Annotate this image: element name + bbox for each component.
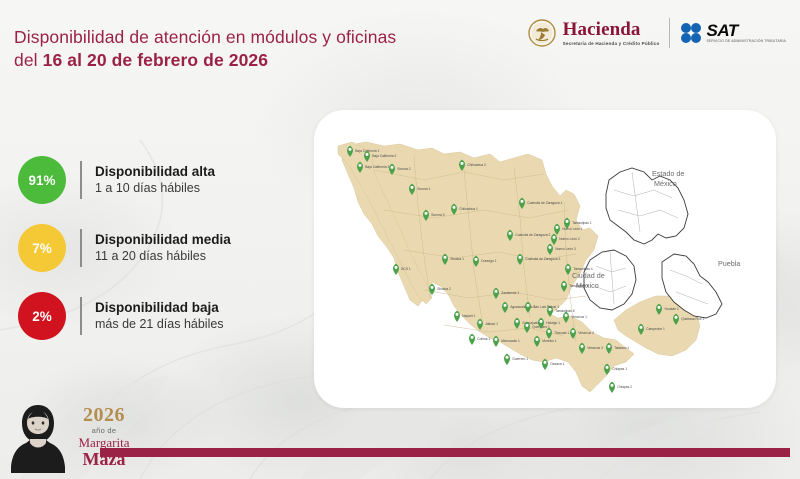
pin-center-dot <box>366 153 369 156</box>
legend-item-baja: 2% Disponibilidad baja más de 21 días há… <box>18 288 298 344</box>
pin-center-dot <box>475 258 478 261</box>
title-line-2-prefix: del <box>14 50 43 70</box>
map-inset-states: Estado de México Ciudad de México Puebla <box>572 168 740 318</box>
pin-label: Veracruz 1 <box>571 315 587 319</box>
pin-center-dot <box>549 246 552 249</box>
legend-percent: 7% <box>32 241 52 256</box>
pin-label: San Luis Potosí 1 <box>533 305 559 309</box>
pin-center-dot <box>521 200 524 203</box>
sat-subtitle: SERVICIO DE ADMINISTRACIÓN TRIBUTARIA <box>706 39 786 44</box>
pin-center-dot <box>506 356 509 359</box>
location-pin-icon <box>469 334 475 345</box>
pin-label: BCS 1 <box>401 267 411 271</box>
pin-label: Baja California 2 <box>372 154 396 158</box>
sat-name: SAT <box>706 22 786 39</box>
inset-label-estado-de-mexico-2: México <box>654 179 677 188</box>
legend-item-alta: 91% Disponibilidad alta 1 a 10 días hábi… <box>18 152 298 208</box>
hacienda-name: Hacienda <box>563 20 660 40</box>
pin-label: Morelos 1 <box>542 339 557 343</box>
pin-label: Colima 1 <box>477 337 490 341</box>
title-line-2-strong: 16 al 20 de febrero de 2026 <box>43 50 268 70</box>
pin-center-dot <box>658 306 661 309</box>
pin-center-dot <box>563 283 566 286</box>
pin-center-dot <box>504 304 507 307</box>
title-line-1: Disponibilidad de atención en módulos y … <box>14 26 514 49</box>
pin-label: Tamaulipas 4 <box>573 267 593 271</box>
legend-text: Disponibilidad baja más de 21 días hábil… <box>95 299 224 333</box>
yellow-circle-badge: 7% <box>18 224 66 272</box>
pin-center-dot <box>581 345 584 348</box>
pin-center-dot <box>640 326 643 329</box>
pin-center-dot <box>359 164 362 167</box>
pin-center-dot <box>565 314 568 317</box>
sat-four-dots-icon <box>680 22 702 44</box>
pin-center-dot <box>556 226 559 229</box>
pin-center-dot <box>516 320 519 323</box>
legend-percent: 91% <box>28 173 55 188</box>
availability-legend: 91% Disponibilidad alta 1 a 10 días hábi… <box>18 152 298 356</box>
footer-accent-bar <box>100 448 790 457</box>
legend-text: Disponibilidad alta 1 a 10 días hábiles <box>95 163 215 197</box>
pin-label: Durango 1 <box>481 259 497 263</box>
pin-center-dot <box>391 166 394 169</box>
pin-center-dot <box>461 162 464 165</box>
pin-center-dot <box>349 148 352 151</box>
pin-label: Sinaloa 1 <box>450 257 464 261</box>
legend-divider <box>80 297 82 335</box>
pin-center-dot <box>526 324 529 327</box>
sat-text: SAT SERVICIO DE ADMINISTRACIÓN TRIBUTARI… <box>706 22 786 44</box>
pin-label: Guerrero 1 <box>512 357 528 361</box>
legend-item-media: 7% Disponibilidad media 11 a 20 días háb… <box>18 220 298 276</box>
pin-center-dot <box>471 336 474 339</box>
pin-label: Chiapas 2 <box>617 385 632 389</box>
footer-year: 2026 <box>66 405 142 426</box>
hacienda-text: Hacienda Secretaría de Hacienda y Crédit… <box>563 20 660 47</box>
pin-center-dot <box>527 304 530 307</box>
pin-label: Chihuahua 2 <box>467 163 486 167</box>
pin-label: Hidalgo 1 <box>546 321 560 325</box>
pin-label: Veracruz 3 <box>587 346 603 350</box>
pin-label: Tabasco 1 <box>614 346 629 350</box>
margarita-maza-text: 2026 año de Margarita Maza <box>66 405 142 469</box>
pin-center-dot <box>572 330 575 333</box>
green-circle-badge: 91% <box>18 156 66 204</box>
location-pin-icon <box>609 382 615 393</box>
pin-center-dot <box>495 290 498 293</box>
hacienda-subtitle: Secretaría de Hacienda y Crédito Público <box>563 40 660 47</box>
pin-label: Chiapas 1 <box>612 367 627 371</box>
pin-center-dot <box>395 266 398 269</box>
inset-label-puebla: Puebla <box>718 259 740 268</box>
logo-divider <box>669 18 670 48</box>
map-card: Estado de México Ciudad de México Puebla… <box>314 110 776 408</box>
legend-subtitle: más de 21 días hábiles <box>95 316 224 333</box>
footer-name-line2: Maza <box>66 450 142 469</box>
legend-subtitle: 1 a 10 días hábiles <box>95 180 215 197</box>
hacienda-logo: Hacienda Secretaría de Hacienda y Crédit… <box>528 19 660 47</box>
pin-center-dot <box>606 366 609 369</box>
pin-label: Tamaulipas 1 <box>572 221 592 225</box>
pin-center-dot <box>411 186 414 189</box>
legend-divider <box>80 229 82 267</box>
pin-center-dot <box>453 206 456 209</box>
legend-title: Disponibilidad alta <box>95 163 215 180</box>
pin-label: Sonora 3 <box>431 213 445 217</box>
logo-bar: Hacienda Secretaría de Hacienda y Crédit… <box>528 10 786 56</box>
pin-label: Quintana Roo 1 <box>681 317 704 321</box>
pin-label: Nayarit 1 <box>462 314 475 318</box>
pin-center-dot <box>444 256 447 259</box>
pin-center-dot <box>425 212 428 215</box>
pin-center-dot <box>608 345 611 348</box>
pin-center-dot <box>509 232 512 235</box>
pin-center-dot <box>567 266 570 269</box>
pin-label: Zacatecas 1 <box>501 291 519 295</box>
pin-center-dot <box>431 286 434 289</box>
pin-label: Jalisco 1 <box>485 322 498 326</box>
legend-subtitle: 11 a 20 días hábiles <box>95 248 231 265</box>
pin-label: Chihuahua 1 <box>459 207 478 211</box>
pin-label: Yucatán 1 <box>664 307 679 311</box>
pin-label: Veracruz 2 <box>578 331 594 335</box>
page-header: Disponibilidad de atención en módulos y … <box>0 0 800 92</box>
pin-label: Tamaulipas 5 <box>569 284 589 288</box>
pin-label: Aguascalientes 1 <box>510 305 535 309</box>
legend-percent: 2% <box>32 309 52 324</box>
pin-label: Nuevo León 2 <box>559 237 580 241</box>
pin-label: Nuevo León 3 <box>555 247 576 251</box>
margarita-maza-logo: 2026 año de Margarita Maza <box>8 397 138 473</box>
inset-label-ciudad-de-mexico: Ciudad de <box>572 271 605 280</box>
pin-label: Baja California 3 <box>365 165 389 169</box>
pin-label: Sonora 2 <box>397 167 411 171</box>
page-title: Disponibilidad de atención en módulos y … <box>14 26 514 72</box>
mexico-availability-map: Estado de México Ciudad de México Puebla… <box>314 110 776 408</box>
pin-center-dot <box>548 330 551 333</box>
pin-label: Nuevo León 1 <box>562 227 583 231</box>
pin-center-dot <box>566 220 569 223</box>
pin-label: Michoacán 1 <box>501 339 520 343</box>
pin-label: Sonora 1 <box>417 187 431 191</box>
pin-label: Coahuila de Zaragoza 1 <box>527 201 562 205</box>
pin-label: Coahuila de Zaragoza 2 <box>515 233 550 237</box>
red-circle-badge: 2% <box>18 292 66 340</box>
sat-logo: SAT SERVICIO DE ADMINISTRACIÓN TRIBUTARI… <box>680 22 786 44</box>
pin-label: Oaxaca 1 <box>550 362 564 366</box>
pin-label: Coahuila de Zaragoza 3 <box>525 257 560 261</box>
pin-center-dot <box>456 313 459 316</box>
pin-center-dot <box>519 256 522 259</box>
legend-divider <box>80 161 82 199</box>
map-pin: Oaxaca 1 <box>542 359 564 370</box>
legend-text: Disponibilidad media 11 a 20 días hábile… <box>95 231 231 265</box>
title-line-2: del 16 al 20 de febrero de 2026 <box>14 49 514 72</box>
pin-center-dot <box>544 361 547 364</box>
legend-title: Disponibilidad baja <box>95 299 224 316</box>
pin-center-dot <box>540 320 543 323</box>
map-pin: Chiapas 2 <box>609 382 632 393</box>
inset-label-estado-de-mexico: Estado de <box>652 169 684 178</box>
pin-center-dot <box>675 316 678 319</box>
pin-center-dot <box>553 236 556 239</box>
footer-name-line1: Margarita <box>66 436 142 450</box>
location-pin-icon <box>504 354 510 365</box>
mexican-eagle-emblem-icon <box>528 19 556 47</box>
pin-center-dot <box>479 321 482 324</box>
pin-center-dot <box>611 384 614 387</box>
pin-label: Sinaloa 2 <box>437 287 451 291</box>
pin-label: Tlaxcala 1 <box>554 331 569 335</box>
pin-center-dot <box>536 338 539 341</box>
pin-label: Campeche 1 <box>646 327 665 331</box>
pin-center-dot <box>495 338 498 341</box>
legend-title: Disponibilidad media <box>95 231 231 248</box>
margarita-maza-portrait-icon <box>10 399 66 473</box>
